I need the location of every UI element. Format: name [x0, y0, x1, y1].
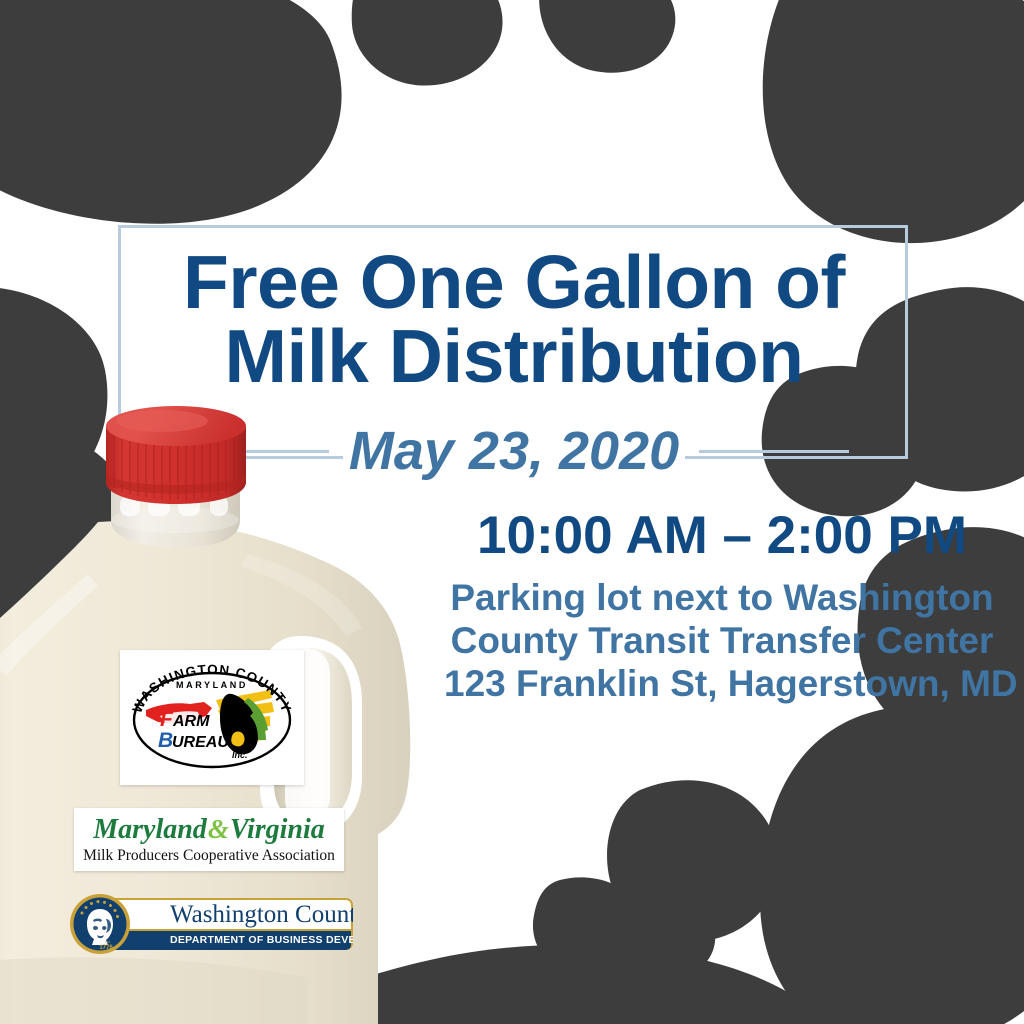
farm-bureau-f: F — [160, 708, 174, 731]
farm-bureau-arm: ARM — [172, 713, 210, 730]
headline-line-1: Free One Gallon of — [130, 246, 898, 320]
county-est-label: est. — [105, 939, 111, 944]
county-department: DEPARTMENT OF BUSINESS DEVELOPMENT — [170, 935, 353, 946]
logo-maryland-virginia: Maryland&Virginia Milk Producers Coopera… — [74, 808, 344, 871]
washington-seal-icon: est. 1776 — [68, 893, 132, 955]
farm-bureau-state: MARYLAND — [176, 680, 248, 690]
farm-bureau-ureau: UREAU — [172, 734, 229, 751]
address-line-1: Parking lot next to Washington — [444, 576, 1000, 619]
county-department-band: DEPARTMENT OF BUSINESS DEVELOPMENT — [104, 931, 351, 950]
mdva-subtitle: Milk Producers Cooperative Association — [83, 848, 335, 864]
county-established: 1776 — [99, 945, 113, 951]
address-line-2: County Transit Transfer Center — [444, 619, 1000, 662]
county-plate: Washington County DEPARTMENT OF BUSINESS… — [102, 898, 353, 950]
event-details: 10:00 AM – 2:00 PM Parking lot next to W… — [444, 508, 1000, 705]
milk-distribution-poster: Free One Gallon of Milk Distribution May… — [0, 0, 1024, 1024]
headline-line-2: Milk Distribution — [130, 320, 898, 394]
farm-bureau-b: B — [158, 729, 173, 752]
page-title: Free One Gallon of Milk Distribution — [130, 246, 898, 393]
logo-washington-county: Washington County DEPARTMENT OF BUSINESS… — [68, 893, 353, 955]
county-name: Washington County — [170, 902, 353, 927]
logo-farm-bureau: WASHINGTON COUNTY MARYLAND F ARM B UREAU… — [120, 650, 304, 785]
mdva-state-2: Virginia — [230, 814, 325, 845]
mdva-ampersand: & — [207, 814, 230, 844]
farm-bureau-inc: Inc. — [232, 750, 248, 760]
mdva-wordmark: Maryland&Virginia — [93, 816, 325, 844]
county-name-band: Washington County — [104, 900, 351, 929]
date-rule-right — [699, 450, 849, 453]
mdva-state-1: Maryland — [93, 814, 207, 845]
address-line-3: 123 Franklin St, Hagerstown, MD — [444, 662, 1000, 705]
event-time: 10:00 AM – 2:00 PM — [444, 508, 1000, 564]
